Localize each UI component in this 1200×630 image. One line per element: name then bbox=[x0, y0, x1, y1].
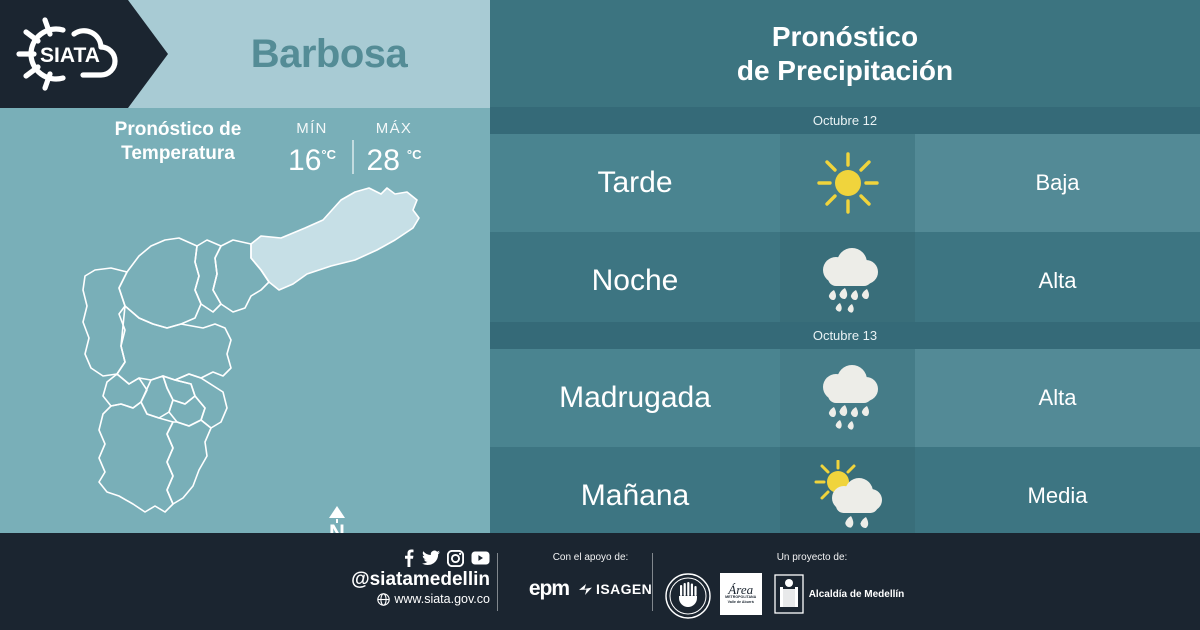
sun-cloud-icon: SIATA bbox=[14, 12, 126, 96]
precipitation-title-line1: Pronóstico bbox=[737, 20, 953, 54]
temperature-min: MÍN 16°C bbox=[278, 120, 346, 177]
weather-icon-cell bbox=[780, 447, 915, 545]
temperature-title-line1: Pronóstico de bbox=[88, 118, 268, 142]
temperature-min-unit: °C bbox=[321, 147, 336, 162]
weather-icon-cell bbox=[780, 134, 915, 232]
precipitation-level: Baja bbox=[915, 134, 1200, 232]
left-header: SIATA Barbosa bbox=[0, 0, 490, 108]
project-logos: Área METROPOLITANA Valle de Aburrá bbox=[712, 573, 912, 615]
temperature-max: MÁX 28°C bbox=[360, 120, 428, 177]
support-block: Con el apoyo de: epm ISAGEN bbox=[508, 551, 673, 601]
map-shape-south bbox=[99, 402, 173, 512]
forecast-row-manana[interactable]: Mañana bbox=[490, 447, 1200, 545]
social-handle[interactable]: @siatamedellin bbox=[330, 569, 490, 591]
precipitation-level: Alta bbox=[915, 232, 1200, 330]
temperature-max-label: MÁX bbox=[360, 120, 428, 137]
forecast-period-label: Madrugada bbox=[490, 349, 780, 447]
forecast-period-label: Tarde bbox=[490, 134, 780, 232]
epm-logo[interactable]: epm bbox=[529, 577, 569, 601]
date-band-oct12: Octubre 12 bbox=[490, 107, 1200, 134]
website-line[interactable]: www.siata.gov.co bbox=[330, 591, 490, 607]
aburra-valley-map-svg bbox=[55, 178, 475, 528]
alcaldia-crest-icon bbox=[774, 574, 804, 614]
amva-sub-line2: Valle de Aburrá bbox=[728, 600, 754, 605]
temperature-min-label: MÍN bbox=[278, 120, 346, 137]
map-shape-barbosa-highlight bbox=[251, 188, 419, 290]
youtube-icon[interactable] bbox=[471, 551, 490, 565]
temperature-divider bbox=[352, 140, 354, 174]
weather-icon-cell bbox=[780, 349, 915, 447]
footer: @siatamedellin www.siata.gov.co Con el a… bbox=[0, 533, 1200, 630]
date-band-oct13: Octubre 13 bbox=[490, 322, 1200, 349]
temperature-values: MÍN 16°C MÁX 28°C bbox=[278, 120, 428, 177]
forecast-row-noche[interactable]: Noche Alta bbox=[490, 232, 1200, 330]
project-block: Un proyecto de: Área METROPOLITANA Valle… bbox=[712, 551, 912, 615]
support-logos: epm ISAGEN bbox=[508, 577, 673, 601]
forecast-period-label: Noche bbox=[490, 232, 780, 330]
precipitation-title-line2: de Precipitación bbox=[737, 54, 953, 88]
isagen-label: ISAGEN bbox=[596, 581, 652, 597]
temperature-title: Pronóstico de Temperatura bbox=[88, 118, 268, 166]
globe-icon bbox=[377, 593, 390, 606]
temperature-panel: SIATA Barbosa Pronóstico de Temperatura … bbox=[0, 0, 490, 533]
forecast-row-tarde[interactable]: Tarde Baja bbox=[490, 134, 1200, 232]
map-shape-bello bbox=[119, 238, 201, 328]
isagen-logo[interactable]: ISAGEN bbox=[579, 581, 652, 597]
amva-signature: Área bbox=[728, 584, 753, 595]
weather-icon-cell bbox=[780, 232, 915, 330]
precipitation-level: Media bbox=[915, 447, 1200, 545]
precipitation-panel: Pronóstico de Precipitación Octubre 12 T… bbox=[490, 0, 1200, 533]
siata-logo-text: SIATA bbox=[40, 44, 100, 67]
city-title: Barbosa bbox=[168, 0, 490, 108]
precipitation-title: Pronóstico de Precipitación bbox=[490, 0, 1200, 107]
website-text: www.siata.gov.co bbox=[394, 591, 490, 607]
precipitation-level: Alta bbox=[915, 349, 1200, 447]
footer-divider-2 bbox=[652, 553, 653, 611]
sun-cloud-rain-icon bbox=[810, 460, 886, 532]
project-caption: Un proyecto de: bbox=[712, 551, 912, 565]
isagen-mark-icon bbox=[579, 583, 593, 596]
footer-divider-1 bbox=[497, 553, 498, 611]
alcaldia-label: Alcaldía de Medellín bbox=[809, 589, 905, 600]
facebook-icon[interactable] bbox=[403, 549, 415, 567]
twitter-icon[interactable] bbox=[422, 550, 440, 566]
forecast-row-madrugada[interactable]: Madrugada bbox=[490, 349, 1200, 447]
temperature-min-value: 16°C bbox=[278, 139, 346, 177]
social-icons bbox=[330, 549, 490, 567]
map-shape-medellin bbox=[117, 306, 231, 384]
rain-cloud-icon bbox=[812, 246, 884, 316]
temperature-title-line2: Temperatura bbox=[88, 142, 268, 166]
temperature-max-unit: °C bbox=[407, 147, 422, 162]
social-block: @siatamedellin www.siata.gov.co bbox=[330, 549, 490, 607]
area-metropolitana-logo[interactable]: Área METROPOLITANA Valle de Aburrá bbox=[720, 573, 762, 615]
alcaldia-logo[interactable]: Alcaldía de Medellín bbox=[774, 574, 905, 614]
forecast-period-label: Mañana bbox=[490, 447, 780, 545]
temperature-max-value: 28°C bbox=[360, 139, 428, 177]
unal-seal-icon[interactable] bbox=[665, 573, 711, 619]
map-shape-north-west bbox=[83, 268, 127, 376]
map-shape-southeast bbox=[167, 420, 211, 504]
instagram-icon[interactable] bbox=[447, 550, 464, 567]
municipality-map[interactable]: N bbox=[55, 178, 475, 528]
infographic-root: SIATA Barbosa Pronóstico de Temperatura … bbox=[0, 0, 1200, 630]
rain-cloud-icon bbox=[812, 363, 884, 433]
sun-icon bbox=[815, 150, 881, 216]
north-arrow-icon bbox=[329, 506, 345, 518]
support-caption: Con el apoyo de: bbox=[508, 551, 673, 565]
siata-logo-wedge[interactable]: SIATA bbox=[0, 0, 168, 108]
